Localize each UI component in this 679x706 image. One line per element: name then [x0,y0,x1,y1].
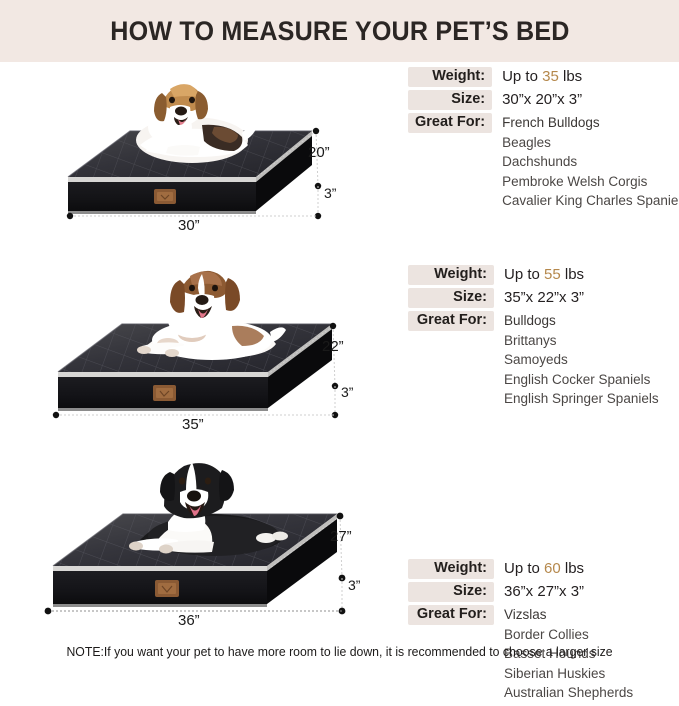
spec-panel-small: Weight: Up to 35 lbs Size: 30”x 20”x 3” … [408,64,679,214]
breed-item: Cavalier King Charles Spaniels [502,191,679,211]
weight-prefix: Up to [504,560,544,577]
bed-row-large: 27” 3” 36” Weight: Up to 60 lbs Size: 36… [0,450,679,640]
breed-list-small: French Bulldogs Beagles Dachshunds Pembr… [502,113,679,211]
breed-item: Brittanys [504,331,659,351]
weight-number: 55 [544,266,561,283]
spec-label-great-for: Great For: [408,113,492,133]
weight-number: 60 [544,560,561,577]
breed-item: French Bulldogs [502,113,679,133]
bed-row-medium: 22” 3” 35” Weight: Up to 55 lbs Size: 35… [0,258,679,448]
breed-item: Border Collies [504,625,633,645]
weight-suffix: lbs [561,560,584,577]
spec-value-size: 35”x 22”x 3” [504,288,659,308]
spec-panel-large: Weight: Up to 60 lbs Size: 36”x 27”x 3” … [408,556,679,706]
dimension-label-width-medium: 22” [322,338,344,355]
spec-label-weight: Weight: [408,265,494,285]
breed-item: Australian Shepherds [504,683,633,703]
breed-item: Beagles [502,133,679,153]
dimension-lines-small [0,64,400,254]
footer-note: NOTE:If you want your pet to have more r… [7,645,672,659]
dimension-label-length-small: 30” [178,217,200,234]
spec-label-great-for: Great For: [408,605,494,625]
breed-item: Samoyeds [504,350,659,370]
weight-suffix: lbs [561,266,584,283]
page-title: HOW TO MEASURE YOUR PET’S BED [110,16,569,47]
breed-item: Pembroke Welsh Corgis [502,172,679,192]
dimension-label-width-small: 20” [308,144,330,161]
dimension-label-length-large: 36” [178,612,200,629]
breed-item: Siberian Huskies [504,664,633,684]
spec-panel-medium: Weight: Up to 55 lbs Size: 35”x 22”x 3” … [408,262,679,412]
weight-prefix: Up to [504,266,544,283]
spec-value-size: 30”x 20”x 3” [502,90,679,110]
breed-list-medium: Bulldogs Brittanys Samoyeds English Cock… [504,311,659,409]
breed-item: Bulldogs [504,311,659,331]
breed-item: English Cocker Spaniels [504,370,659,390]
spec-label-size: Size: [408,90,492,110]
spec-row-size: Size: 35”x 22”x 3” [408,288,659,308]
spec-row-weight: Weight: Up to 60 lbs [408,559,633,579]
bed-illustration-medium: 22” 3” 35” [0,258,400,448]
spec-value-weight: Up to 60 lbs [504,559,633,579]
dimension-label-height-medium: 3” [341,384,353,400]
spec-row-weight: Weight: Up to 35 lbs [408,67,679,87]
dimension-label-length-medium: 35” [182,416,204,433]
breed-item: Dachshunds [502,152,679,172]
weight-prefix: Up to [502,68,542,85]
spec-value-size: 36”x 27”x 3” [504,582,633,602]
spec-row-size: Size: 36”x 27”x 3” [408,582,633,602]
dimension-label-height-large: 3” [348,577,360,593]
dimension-label-width-large: 27” [330,528,352,545]
bed-size-rows: 20” 3” 30” Weight: Up to 35 lbs Size: 30… [0,62,679,636]
breed-item: English Springer Spaniels [504,389,659,409]
breed-item: Vizslas [504,605,633,625]
spec-label-weight: Weight: [408,559,494,579]
header-banner: HOW TO MEASURE YOUR PET’S BED [0,0,679,62]
spec-row-great-for: Great For: French Bulldogs Beagles Dachs… [408,113,679,211]
spec-row-great-for: Great For: Bulldogs Brittanys Samoyeds E… [408,311,659,409]
bed-row-small: 20” 3” 30” Weight: Up to 35 lbs Size: 30… [0,64,679,254]
spec-label-weight: Weight: [408,67,492,87]
bed-illustration-small: 20” 3” 30” [0,64,400,254]
spec-label-size: Size: [408,288,494,308]
bed-illustration-large: 27” 3” 36” [0,450,400,640]
spec-row-weight: Weight: Up to 55 lbs [408,265,659,285]
spec-row-size: Size: 30”x 20”x 3” [408,90,679,110]
spec-label-great-for: Great For: [408,311,494,331]
weight-number: 35 [542,68,559,85]
dimension-label-height-small: 3” [324,185,336,201]
dimension-lines-large [0,450,400,640]
weight-suffix: lbs [559,68,582,85]
spec-value-weight: Up to 35 lbs [502,67,679,87]
spec-value-weight: Up to 55 lbs [504,265,659,285]
spec-label-size: Size: [408,582,494,602]
